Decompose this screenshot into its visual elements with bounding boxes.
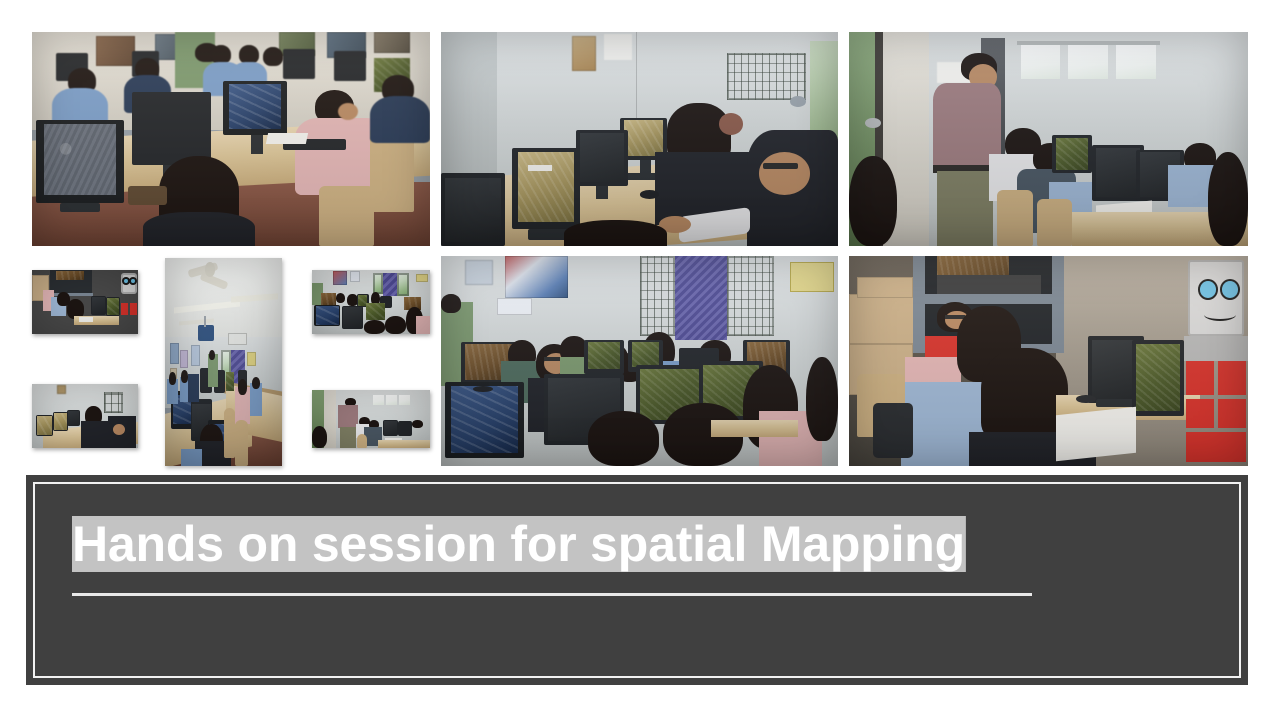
photo-robot-mascot-lab[interactable] [849,256,1248,466]
title-segment-space-1 [224,516,238,572]
photo-classroom-purple-window[interactable] [441,256,838,466]
title-segment-2: on [238,516,299,572]
photo-lab-students-front[interactable] [32,32,430,246]
title-segment-3: session for spatial Mapping [312,516,965,572]
photo-instructor-standing[interactable] [849,32,1248,246]
photo-monitors-map-row[interactable] [441,32,838,246]
slide-title[interactable]: Hands on session for spatial Mapping [72,511,965,577]
photo-wide-lab-view[interactable] [165,258,282,466]
title-text-wrap[interactable]: Hands on session for spatial Mapping [72,511,1228,577]
title-underline [72,593,1032,596]
slide-canvas: Hands on session for spatial Mapping [0,0,1280,720]
photo-thumb-classroom-purple[interactable] [312,270,430,334]
photo-thumb-robot-lab[interactable] [32,270,138,334]
photo-thumb-instructor[interactable] [312,390,430,448]
title-segment-1: Hands [72,516,224,572]
photo-thumb-monitors-map-row[interactable] [32,384,138,448]
title-placeholder[interactable]: Hands on session for spatial Mapping [26,475,1248,685]
title-segment-space-2 [298,516,312,572]
